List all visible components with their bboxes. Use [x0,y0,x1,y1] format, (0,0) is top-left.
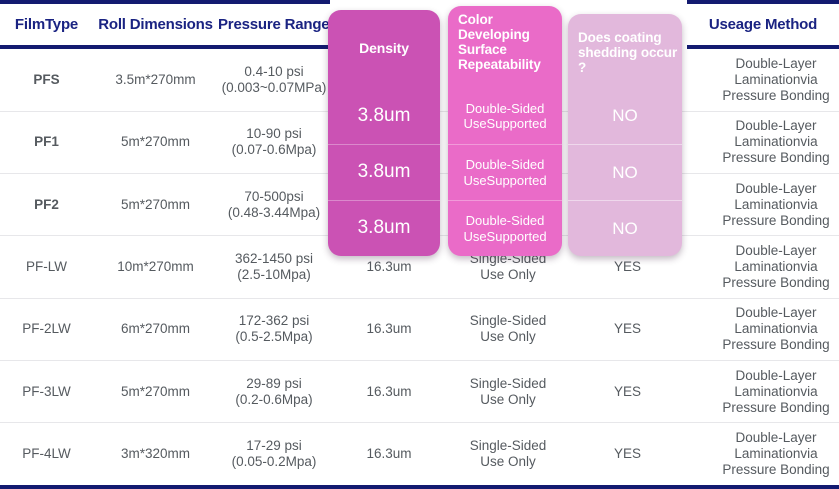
usage-line-2: Laminationvia [713,259,839,275]
cell-roll-dimensions: 5m*270mm [93,111,218,173]
header-top-rule-gap-density [330,0,448,4]
cell-shedding: YES [568,423,687,485]
usage-line-3: Pressure Bonding [713,400,839,416]
cell-pressure-range: 10-90 psi (0.07-0.6Mpa) [218,111,330,173]
highlight-shedding-value: NO [568,144,682,200]
usage-line-1: Double-Layer [713,118,839,134]
comparison-table-page: FilmType Roll Dimensions Pressure Ranges… [0,0,839,489]
pressure-mpa: (0.48-3.44Mpa) [218,205,330,221]
cell-film-type: PF-3LW [0,361,93,423]
repeatability-value-line-2: UseSupported [463,229,546,244]
table-row: PF-3LW 5m*270mm 29-89 psi (0.2-0.6Mpa) 1… [0,361,839,423]
highlight-density-value: 3.8um [328,88,440,144]
pressure-psi: 10-90 psi [218,126,330,142]
cell-film-type: PFS [0,49,93,111]
cell-pressure-range: 29-89 psi (0.2-0.6Mpa) [218,361,330,423]
column-header-pressure-ranges: Pressure Ranges [218,4,330,45]
header-top-rule-gap-repeat [448,0,568,4]
highlight-repeatability-value: Double-Sided UseSupported [448,88,562,144]
repeatability-value-line-1: Double-Sided [463,101,546,116]
repeatability-value-line-1: Double-Sided [463,157,546,172]
usage-line-2: Laminationvia [713,134,839,150]
cell-useage-method: Double-Layer Laminationvia Pressure Bond… [687,111,839,173]
usage-line-3: Pressure Bonding [713,150,839,166]
header-top-rule-gap-shedding [568,0,687,4]
cell-pressure-range: 70-500psi (0.48-3.44Mpa) [218,174,330,236]
shedding-title-line-1: Does coating [578,30,682,45]
shedding-title-line-2: shedding occur ? [578,45,682,75]
cell-pressure-range: 17-29 psi (0.05-0.2Mpa) [218,423,330,485]
cell-film-type: PF1 [0,111,93,173]
repeatability-line-2: Use Only [448,267,568,283]
cell-useage-method: Double-Layer Laminationvia Pressure Bond… [687,174,839,236]
highlight-card-shedding-title: Does coating shedding occur ? [568,14,682,88]
highlight-card-shedding[interactable]: Does coating shedding occur ? NO NO NO [568,14,682,256]
cell-film-type: PF-4LW [0,423,93,485]
usage-line-3: Pressure Bonding [713,275,839,291]
usage-line-2: Laminationvia [713,321,839,337]
cell-roll-dimensions: 6m*270mm [93,298,218,360]
column-header-film-type: FilmType [0,4,93,45]
usage-line-2: Laminationvia [713,72,839,88]
repeatability-title-line-3: Repeatability [458,57,562,72]
usage-line-2: Laminationvia [713,197,839,213]
highlight-card-density[interactable]: Density 3.8um 3.8um 3.8um [328,10,440,256]
repeatability-value-line-1: Double-Sided [463,213,546,228]
cell-useage-method: Double-Layer Laminationvia Pressure Bond… [687,361,839,423]
highlight-card-repeatability[interactable]: Color Developing Surface Repeatability D… [448,6,562,256]
pressure-psi: 70-500psi [218,189,330,205]
usage-line-1: Double-Layer [713,181,839,197]
cell-roll-dimensions: 3.5m*270mm [93,49,218,111]
pressure-mpa: (2.5-10Mpa) [218,267,330,283]
cell-pressure-range: 0.4-10 psi (0.003~0.07MPa) [218,49,330,111]
cell-useage-method: Double-Layer Laminationvia Pressure Bond… [687,236,839,298]
highlight-density-value: 3.8um [328,144,440,200]
usage-line-1: Double-Layer [713,368,839,384]
repeatability-line-1: Single-Sided [448,376,568,392]
cell-pressure-range: 362-1450 psi (2.5-10Mpa) [218,236,330,298]
cell-roll-dimensions: 5m*270mm [93,361,218,423]
usage-line-3: Pressure Bonding [713,337,839,353]
highlight-shedding-value: NO [568,88,682,144]
repeatability-value-line-2: UseSupported [463,116,546,131]
usage-line-2: Laminationvia [713,384,839,400]
pressure-psi: 172-362 psi [218,313,330,329]
highlight-shedding-value: NO [568,200,682,256]
repeatability-line-1: Single-Sided [448,438,568,454]
highlight-density-value: 3.8um [328,200,440,256]
usage-line-1: Double-Layer [713,305,839,321]
pressure-mpa: (0.07-0.6Mpa) [218,142,330,158]
highlight-card-density-title: Density [328,10,440,88]
repeatability-line-2: Use Only [448,454,568,470]
repeatability-value-line-2: UseSupported [463,173,546,188]
usage-line-3: Pressure Bonding [713,213,839,229]
cell-useage-method: Double-Layer Laminationvia Pressure Bond… [687,423,839,485]
cell-density: 16.3um [330,298,448,360]
cell-useage-method: Double-Layer Laminationvia Pressure Bond… [687,49,839,111]
cell-pressure-range: 172-362 psi (0.5-2.5Mpa) [218,298,330,360]
cell-useage-method: Double-Layer Laminationvia Pressure Bond… [687,298,839,360]
table-bottom-rule [0,485,839,489]
repeatability-title-line-2: Surface [458,42,562,57]
column-header-useage-method: Useage Method [687,4,839,45]
cell-density: 16.3um [330,361,448,423]
cell-repeatability: Single-Sided Use Only [448,298,568,360]
column-header-roll-dimensions: Roll Dimensions [93,4,218,45]
usage-line-3: Pressure Bonding [713,88,839,104]
pressure-mpa: (0.2-0.6Mpa) [218,392,330,408]
pressure-mpa: (0.5-2.5Mpa) [218,329,330,345]
cell-density: 16.3um [330,423,448,485]
pressure-psi: 29-89 psi [218,376,330,392]
repeatability-title-line-1: Color Developing [458,12,562,42]
usage-line-1: Double-Layer [713,56,839,72]
cell-shedding: YES [568,361,687,423]
table-row: PF-4LW 3m*320mm 17-29 psi (0.05-0.2Mpa) … [0,423,839,485]
cell-repeatability: Single-Sided Use Only [448,361,568,423]
pressure-psi: 17-29 psi [218,438,330,454]
pressure-psi: 0.4-10 psi [218,64,330,80]
usage-line-3: Pressure Bonding [713,462,839,478]
table-bottom-rule-row [0,485,839,489]
cell-roll-dimensions: 10m*270mm [93,236,218,298]
pressure-mpa: (0.003~0.07MPa) [218,80,330,96]
repeatability-line-1: Single-Sided [448,313,568,329]
repeatability-line-2: Use Only [448,392,568,408]
cell-film-type: PF-2LW [0,298,93,360]
cell-film-type: PF-LW [0,236,93,298]
cell-film-type: PF2 [0,174,93,236]
cell-roll-dimensions: 5m*270mm [93,174,218,236]
table-row: PF-2LW 6m*270mm 172-362 psi (0.5-2.5Mpa)… [0,298,839,360]
cell-shedding: YES [568,298,687,360]
usage-line-1: Double-Layer [713,430,839,446]
pressure-mpa: (0.05-0.2Mpa) [218,454,330,470]
highlight-repeatability-value: Double-Sided UseSupported [448,144,562,200]
cell-roll-dimensions: 3m*320mm [93,423,218,485]
pressure-psi: 362-1450 psi [218,251,330,267]
usage-line-1: Double-Layer [713,243,839,259]
usage-line-2: Laminationvia [713,446,839,462]
cell-repeatability: Single-Sided Use Only [448,423,568,485]
repeatability-line-2: Use Only [448,329,568,345]
highlight-card-repeatability-title: Color Developing Surface Repeatability [448,6,562,88]
highlight-repeatability-value: Double-Sided UseSupported [448,200,562,256]
